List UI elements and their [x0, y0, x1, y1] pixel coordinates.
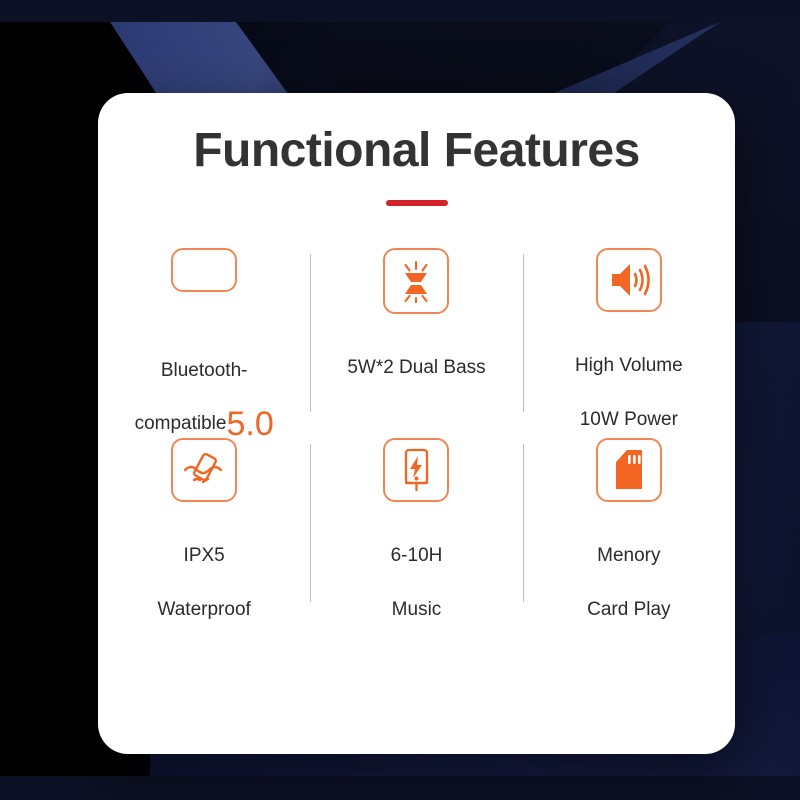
feature-label-high-volume: High Volume 10W Power	[575, 326, 683, 434]
waterproof-icon-box	[171, 438, 237, 502]
feature-item-battery[interactable]: 6-10H Music	[310, 434, 522, 624]
poster-canvas: Functional Features Bluetooth- compatibl…	[0, 0, 800, 800]
feature-item-high-volume[interactable]: High Volume 10W Power	[523, 244, 735, 434]
feature-item-bluetooth[interactable]: Bluetooth- compatible5.0	[98, 244, 310, 434]
dual-bass-label-line1: 5W*2 Dual Bass	[347, 357, 485, 378]
battery-label-line1: 6-10H	[391, 545, 443, 566]
volume-speaker-icon	[606, 259, 652, 301]
high-volume-label-line2: 10W Power	[580, 409, 678, 430]
features-grid: Bluetooth- compatible5.0	[98, 244, 735, 624]
waterproof-icon	[181, 449, 227, 491]
battery-bolt-icon	[397, 447, 435, 493]
feature-label-battery: 6-10H Music	[391, 516, 443, 624]
background-bottom-bar	[0, 776, 800, 800]
memory-card-icon-box	[596, 438, 662, 502]
high-volume-label-line1: High Volume	[575, 355, 683, 376]
bluetooth-label-line1: Bluetooth-	[161, 360, 248, 381]
feature-item-waterproof[interactable]: IPX5 Waterproof	[98, 434, 310, 624]
background-top-bar	[0, 0, 800, 22]
memory-card-label-line2: Card Play	[587, 599, 670, 620]
dual-bass-speaker-icon	[394, 259, 438, 303]
feature-label-dual-bass: 5W*2 Dual Bass	[347, 328, 485, 382]
memory-card-icon	[608, 447, 650, 493]
feature-label-bluetooth: Bluetooth- compatible5.0	[135, 306, 274, 437]
volume-icon-box	[596, 248, 662, 312]
battery-icon-box	[383, 438, 449, 502]
bluetooth-label-line2: compatible	[135, 413, 227, 434]
features-card: Functional Features Bluetooth- compatibl…	[98, 93, 735, 754]
page-title: Functional Features	[98, 93, 735, 178]
dual-bass-icon-box	[383, 248, 449, 314]
feature-label-memory-card: Menory Card Play	[587, 516, 670, 624]
memory-card-label-line1: Menory	[597, 545, 660, 566]
waterproof-label-line1: IPX5	[184, 545, 225, 566]
feature-item-dual-bass[interactable]: 5W*2 Dual Bass	[310, 244, 522, 434]
bluetooth-icon	[187, 250, 221, 290]
bluetooth-label-wrap: Bluetooth- compatible5.0	[135, 332, 274, 437]
feature-label-waterproof: IPX5 Waterproof	[158, 516, 251, 624]
feature-item-memory-card[interactable]: Menory Card Play	[523, 434, 735, 624]
waterproof-label-line2: Waterproof	[158, 599, 251, 620]
bluetooth-icon-box	[171, 248, 237, 292]
title-underline-accent	[386, 200, 448, 206]
battery-label-line2: Music	[392, 599, 442, 620]
